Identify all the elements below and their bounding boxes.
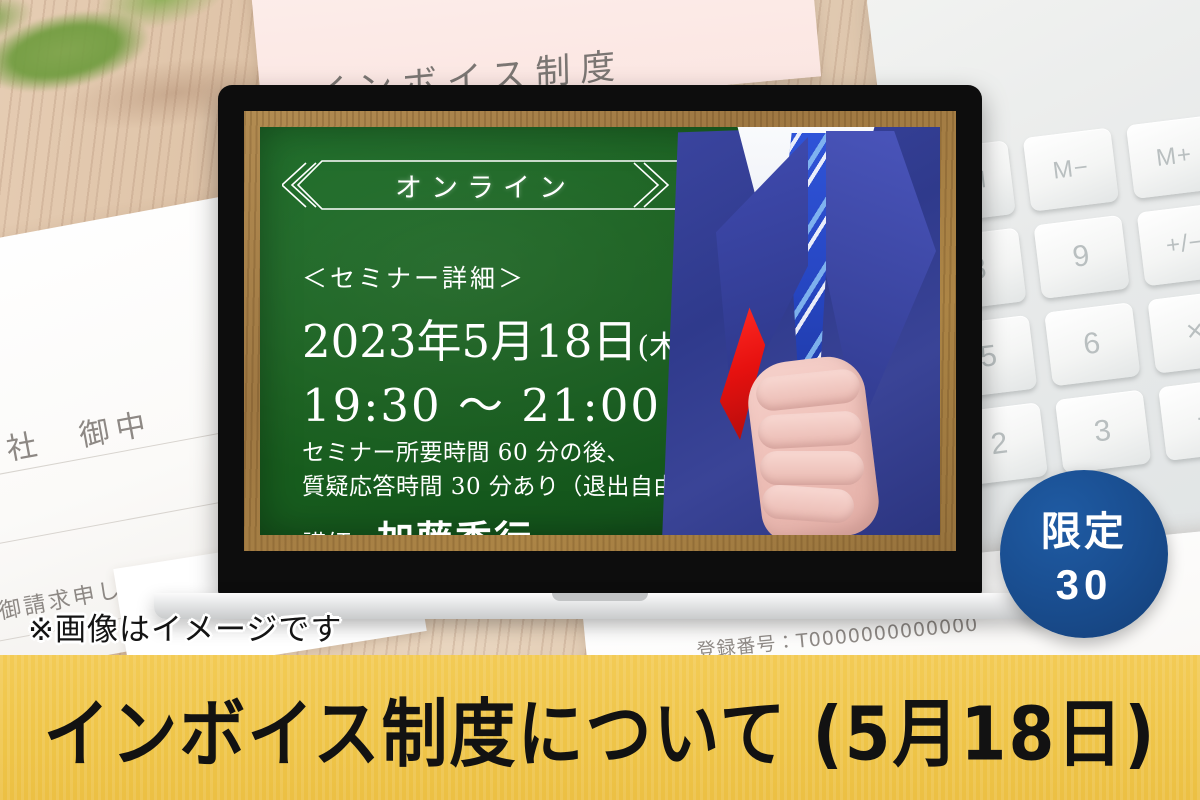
seminar-note-line-1: セミナー所要時間 60 分の後、 xyxy=(302,433,630,467)
lecturer-row: 講師：加藤秀行 xyxy=(302,509,533,535)
online-ribbon-banner: オンライン xyxy=(282,159,682,211)
limited-count: 30 xyxy=(1056,561,1113,609)
image-disclaimer-text: ※画像はイメージです xyxy=(28,604,342,649)
calculator-key: M− xyxy=(1023,127,1119,211)
seminar-date: 2023年5月18日(木) xyxy=(302,305,691,370)
seminar-time: 19:30 ～ 21:00 xyxy=(302,369,661,434)
finger xyxy=(761,484,855,524)
limited-label: 限定 xyxy=(1041,499,1127,557)
calculator-key: × xyxy=(1147,290,1200,374)
laptop-hinge-notch xyxy=(552,593,648,601)
laptop: オンライン ＜セミナー詳細＞ 2023年5月18日(木) 19:30 ～ 21:… xyxy=(218,85,982,595)
finger xyxy=(757,410,863,449)
lecturer-name: 加藤秀行 xyxy=(377,517,533,535)
chalkboard-wooden-frame: オンライン ＜セミナー詳細＞ 2023年5月18日(木) 19:30 ～ 21:… xyxy=(244,111,956,551)
chalkboard: オンライン ＜セミナー詳細＞ 2023年5月18日(木) 19:30 ～ 21:… xyxy=(260,127,940,535)
seminar-note-line-2: 質疑応答時間 30 分あり（退出自由） xyxy=(302,467,700,501)
calculator-key: 6 xyxy=(1044,302,1140,386)
calculator-key: + xyxy=(1158,377,1200,461)
seminar-promo-image: インボイス制度 会社 御中 御請求申し上げます。 RM M− M+ 8 9 +/… xyxy=(0,0,1200,800)
presenter-photo xyxy=(650,127,940,535)
lecturer-label: 講師： xyxy=(302,530,377,535)
ribbon-label: オンライン xyxy=(282,159,682,211)
calculator-key: 3 xyxy=(1055,390,1151,474)
banner-title-text: インボイス制度について (5月18日) xyxy=(43,674,1156,782)
calculator-key: +/− xyxy=(1137,202,1200,286)
seminar-detail-heading: ＜セミナー詳細＞ xyxy=(302,259,526,295)
laptop-screen: オンライン ＜セミナー詳細＞ 2023年5月18日(木) 19:30 ～ 21:… xyxy=(244,111,956,551)
bottom-title-banner: インボイス制度について (5月18日) xyxy=(0,655,1200,800)
calculator-key: 9 xyxy=(1033,215,1129,299)
limited-seats-badge: 限定 30 xyxy=(1000,470,1168,638)
seminar-date-main: 2023年5月18日 xyxy=(302,315,637,368)
invoice-addressee-text: 会社 御中 xyxy=(0,398,156,475)
calculator-key: M+ xyxy=(1126,115,1200,199)
finger xyxy=(760,451,864,485)
